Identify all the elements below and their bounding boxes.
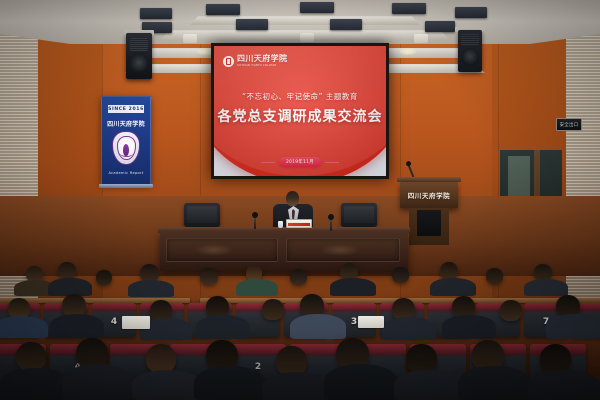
audience-shoulders: [128, 280, 174, 297]
slide-logo: 四川天府学院 SICHUAN TIANFU COLLEGE: [223, 55, 287, 67]
table-carving: [194, 244, 234, 256]
stage-chair: [184, 203, 220, 227]
ceiling-light-fixture: [236, 19, 268, 30]
audience-shoulders: [442, 315, 496, 339]
audience-shoulders: [524, 279, 568, 296]
banner-org-name: 四川天府学院: [102, 119, 150, 128]
ceiling-beam: [190, 16, 420, 26]
microphone-icon: [254, 215, 256, 229]
audience-shoulders: [382, 317, 436, 340]
seated-speaker-head: [286, 191, 299, 206]
projected-slide: 四川天府学院 SICHUAN TIANFU COLLEGE “不忘初心、牢记使命…: [214, 46, 386, 176]
audience-shoulders: [0, 368, 70, 400]
university-crest-icon: [112, 131, 140, 165]
exit-sign: 安全出口: [556, 118, 582, 131]
audience-shoulders: [430, 278, 476, 296]
audience-shoulders: [458, 366, 530, 400]
downlight: [300, 33, 314, 42]
audience-shoulders: [194, 366, 266, 400]
conference-hall-photo: 安全出口 四川天府学院 SICHUAN TIANFU COLLEGE: [0, 0, 600, 400]
audience-shoulders: [0, 316, 48, 338]
audience-shoulders: [394, 370, 464, 400]
seat-cushion: [92, 303, 136, 310]
document-paper: [122, 316, 150, 329]
downlight: [183, 34, 197, 43]
podium-label: 四川天府学院: [408, 190, 451, 200]
rule-right: [325, 162, 339, 163]
standing-banner: SINCE 2016 四川天府学院 Academic Report: [101, 96, 151, 185]
microphone-icon: [330, 217, 332, 231]
audience-shoulders: [236, 279, 278, 296]
ceiling-light-fixture: [330, 19, 362, 30]
slide-date-badge: 2019年11月: [279, 157, 321, 167]
ceiling-light-fixture: [425, 21, 455, 32]
banner-footer-label: Academic Report: [102, 171, 150, 175]
slide-subtitle: “不忘初心、牢记使命” 主题教育: [214, 91, 386, 102]
ceiling-light-fixture: [140, 8, 172, 19]
banner-since-badge: SINCE 2016: [108, 105, 144, 113]
university-emblem-icon: [223, 56, 234, 67]
rule-left: [261, 162, 275, 163]
audience-head: [58, 262, 76, 279]
ceiling-light-fixture: [300, 2, 334, 13]
podium-body: [409, 208, 449, 245]
banner-since-label: SINCE 2016: [108, 107, 144, 112]
slide-date-group: 2019年11月: [214, 157, 386, 167]
audience-head: [146, 344, 176, 373]
stage-chair: [341, 203, 377, 227]
audience-shoulders: [132, 370, 202, 400]
projection-screen: 四川天府学院 SICHUAN TIANFU COLLEGE “不忘初心、牢记使命…: [211, 43, 389, 179]
loudspeaker-icon: [126, 33, 152, 79]
audience-shoulders: [528, 370, 600, 400]
exit-sign-label: 安全出口: [560, 122, 579, 128]
audience-area: 4 3 7: [0, 258, 600, 400]
audience-head: [262, 299, 284, 320]
light-glow: [400, 48, 416, 55]
ceiling-light-fixture: [455, 7, 487, 18]
name-plate: [286, 219, 312, 228]
document-paper: [358, 316, 384, 328]
audience-shoulders: [546, 314, 600, 339]
podium-face: 四川天府学院: [400, 182, 458, 208]
name-plate-bar: [288, 223, 310, 226]
crest-inner: [117, 136, 136, 160]
audience-head: [200, 268, 218, 285]
ceiling-light-fixture: [392, 3, 426, 14]
slide-logo-cn: 四川天府学院: [237, 55, 287, 63]
audience-shoulders: [330, 278, 376, 296]
audience-head: [16, 342, 46, 371]
ceiling-light-fixture: [206, 4, 240, 15]
downlight: [414, 34, 428, 43]
audience-shoulders: [324, 364, 398, 400]
audience-head: [486, 268, 503, 284]
audience-head: [392, 267, 409, 283]
banner-stand-base: [99, 184, 153, 188]
podium: 四川天府学院: [400, 177, 458, 245]
seat-cushion: [332, 303, 376, 310]
audience-head: [290, 269, 307, 285]
audience-head: [500, 300, 522, 321]
audience-shoulders: [290, 314, 346, 339]
table-carving: [320, 244, 360, 256]
loudspeaker-icon: [458, 30, 482, 72]
audience-shoulders: [196, 315, 250, 339]
audience-shoulders: [262, 372, 332, 400]
slide-logo-en: SICHUAN TIANFU COLLEGE: [237, 65, 287, 68]
slide-title: 各党总支调研成果交流会: [214, 106, 386, 126]
audience-shoulders: [62, 364, 134, 400]
audience-shoulders: [50, 314, 104, 338]
water-cup-icon: [278, 221, 283, 228]
crest-arc: [120, 150, 133, 157]
audience-head: [96, 270, 112, 285]
